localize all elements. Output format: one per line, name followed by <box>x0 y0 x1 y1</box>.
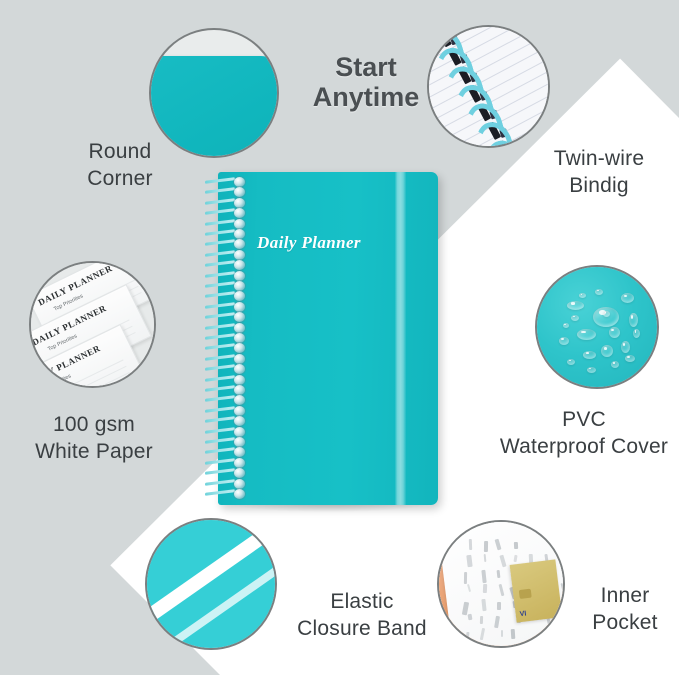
notebook-spiral-binding-icon <box>205 178 247 500</box>
inner-pocket-card-logo: VI <box>519 610 526 618</box>
feature-circle-twin-wire-binding <box>427 25 550 148</box>
elastic-band-stripe-icon <box>147 520 275 648</box>
notebook-cover: Daily Planner <box>218 172 438 505</box>
feature-label-round-corner: Round Corner <box>52 139 188 193</box>
feature-label-twin-wire-binding: Twin-wire Bindig <box>524 146 674 200</box>
water-droplets-icon <box>537 267 657 387</box>
paper-stack-icon: DAILY PLANNERTop PrioritiesDAILY PLANNER… <box>31 263 154 386</box>
rounded-corner-swatch-icon <box>151 30 277 156</box>
feature-circle-white-paper: DAILY PLANNERTop PrioritiesDAILY PLANNER… <box>29 261 156 388</box>
page-headline: Start Anytime <box>296 52 436 112</box>
infographic-canvas: Start Anytime Round Corner Twin-wire Bin… <box>0 0 679 675</box>
twin-wire-coil-icon <box>429 27 548 146</box>
product-notebook: Daily Planner <box>205 172 438 505</box>
inner-pocket-page-icon: VI <box>439 522 563 646</box>
feature-label-inner-pocket: Inner Pocket <box>570 583 679 637</box>
feature-circle-elastic-closure-band <box>145 518 277 650</box>
feature-circle-pvc-waterproof-cover <box>535 265 659 389</box>
feature-label-pvc-waterproof-cover: PVC Waterproof Cover <box>489 407 679 461</box>
notebook-elastic-band <box>395 172 406 505</box>
feature-label-white-paper: 100 gsm White Paper <box>16 412 172 466</box>
feature-circle-inner-pocket: VI <box>437 520 565 648</box>
feature-label-elastic-closure-band: Elastic Closure Band <box>286 589 438 643</box>
